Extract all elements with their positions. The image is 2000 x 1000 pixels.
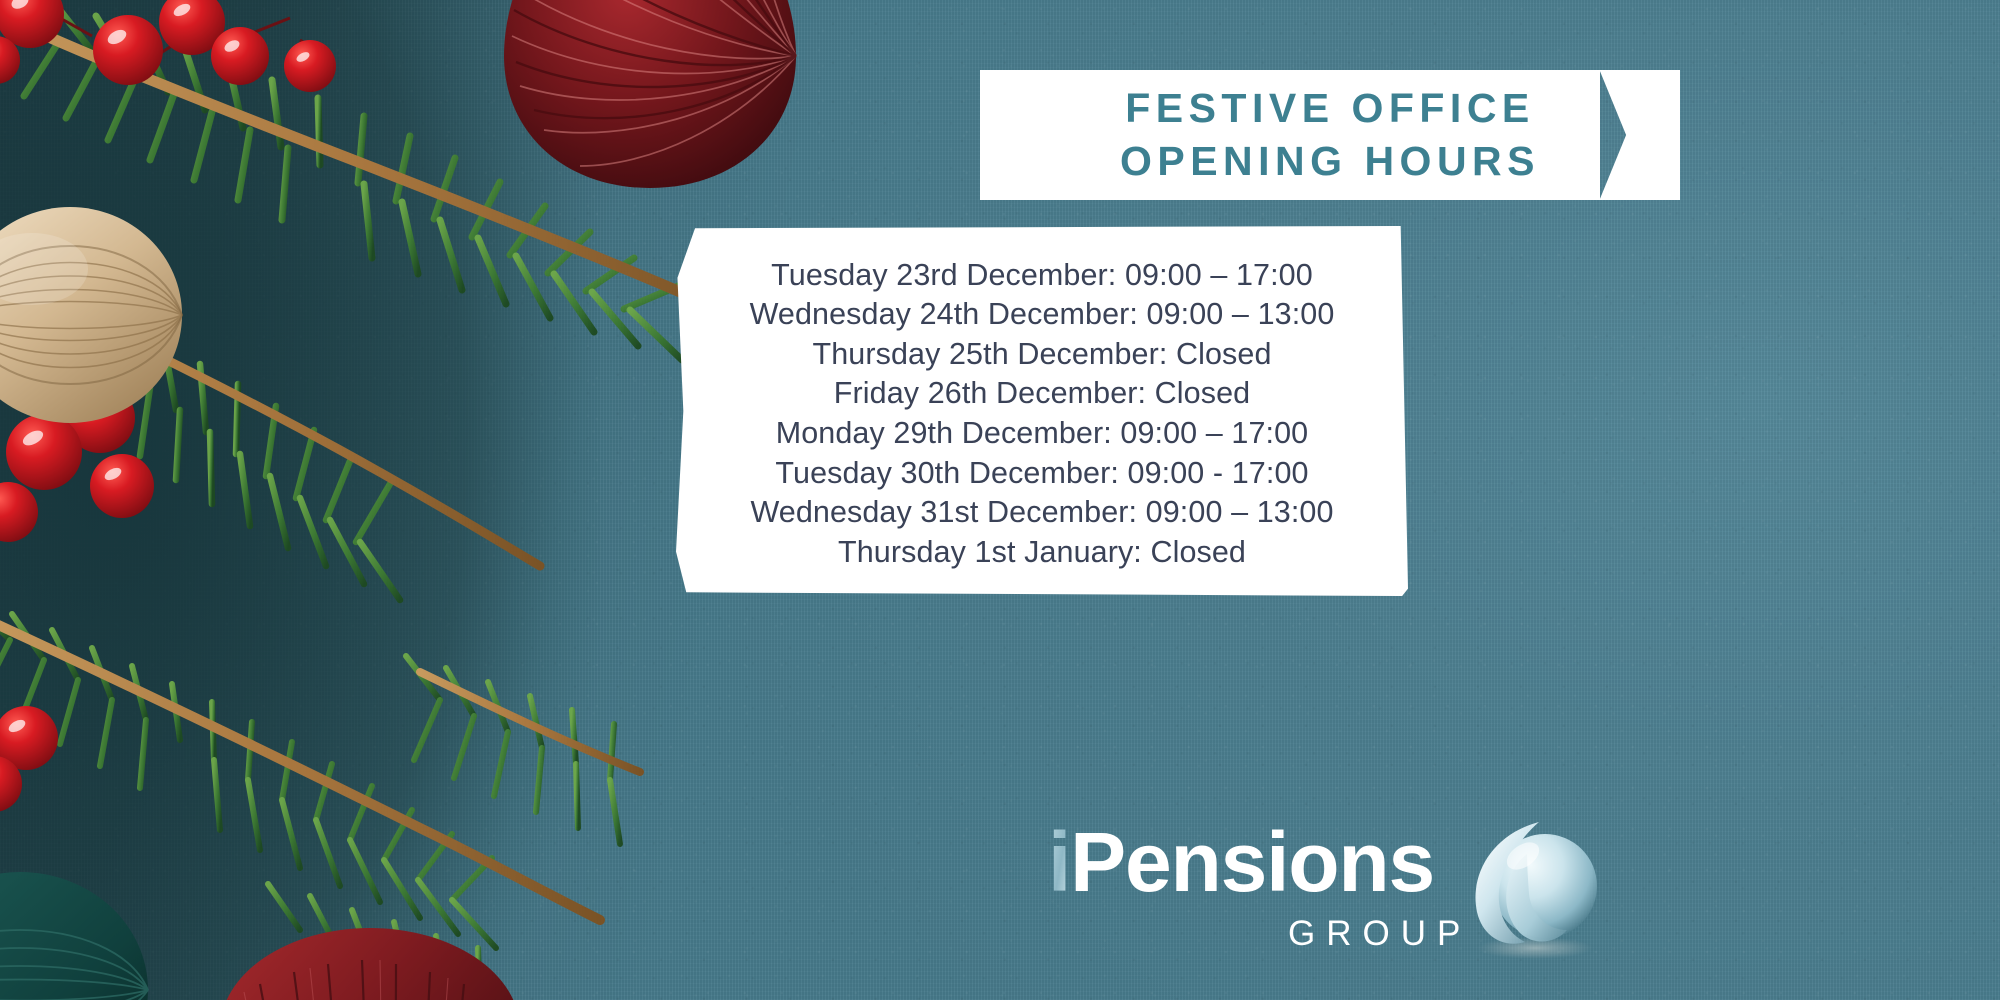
hours-line: Monday 29th December: 09:00 – 17:00 — [776, 414, 1309, 454]
hours-panel: Tuesday 23rd December: 09:00 – 17:00 Wed… — [676, 226, 1408, 596]
hours-line: Wednesday 31st December: 09:00 – 13:00 — [750, 493, 1333, 533]
page-title: FESTIVE OFFICE OPENING HOURS — [1120, 82, 1540, 189]
sphere-crescent-icon — [1443, 812, 1623, 972]
hours-line: Tuesday 30th December: 09:00 - 17:00 — [775, 454, 1308, 494]
logo-pensions-text: Pensions — [1070, 815, 1434, 909]
logo-wordmark: iPensions — [1048, 820, 1434, 904]
red-honeycomb-ornament — [500, 0, 800, 200]
hours-line: Tuesday 23rd December: 09:00 – 17:00 — [771, 256, 1313, 296]
hours-line: Wednesday 24th December: 09:00 – 13:00 — [750, 295, 1335, 335]
hours-line: Friday 26th December: Closed — [834, 374, 1250, 414]
festive-hours-banner: FESTIVE OFFICE OPENING HOURS Tuesday 23r… — [0, 0, 2000, 1000]
title-ribbon: FESTIVE OFFICE OPENING HOURS — [1060, 70, 1600, 200]
ipensions-group-logo: iPensions GROUP — [1048, 820, 1608, 965]
hours-line: Thursday 25th December: Closed — [812, 335, 1271, 375]
logo-i-letter: i — [1048, 815, 1070, 909]
hours-line: Thursday 1st January: Closed — [838, 533, 1246, 573]
